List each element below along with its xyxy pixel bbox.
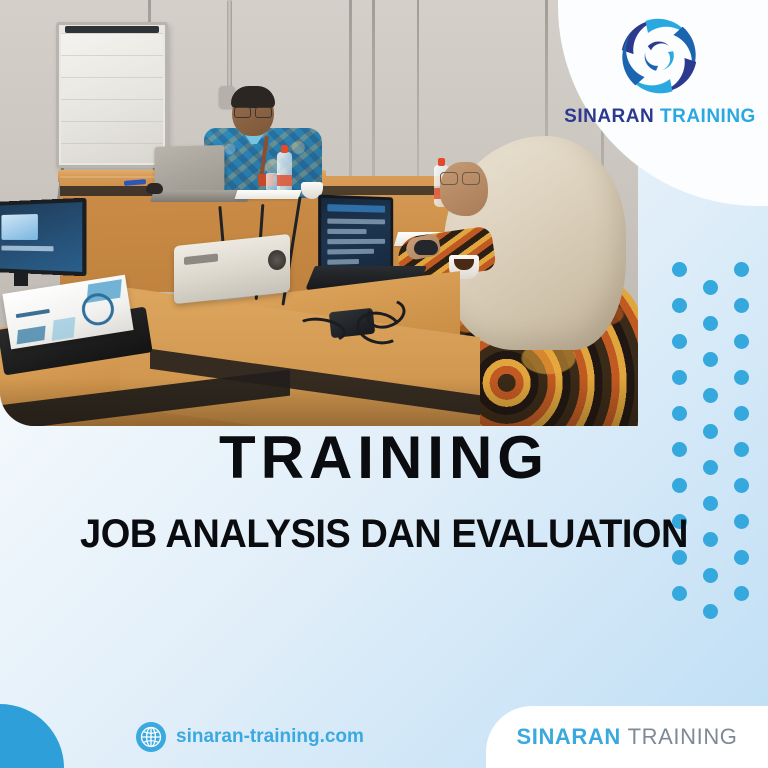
website-url-text: sinaran-training.com [176,726,364,748]
decorative-dot [672,370,687,385]
participant-mouse [414,240,438,255]
laptop-screen-titlebar [327,204,385,213]
paper-stack [235,190,302,199]
laptop-screen-row [327,249,374,255]
poster-canvas: SINARAN TRAINING TRAINING JOB ANALYSIS D… [0,0,768,768]
footer-brand-panel: SINARAN TRAINING [486,706,768,768]
sinaran-swirl-logo-icon [610,12,708,104]
laptop-screen-row [327,259,359,265]
decorative-dot [672,262,687,277]
decorative-dot [734,298,749,313]
decorative-dot [734,370,749,385]
training-photo [0,0,638,426]
laptop-screen-row [327,229,366,234]
wall-seam [417,0,419,200]
decorative-dot [672,406,687,421]
decorative-dot [703,316,718,331]
photo-shadow-overlay [0,378,638,426]
participant-face [440,162,488,216]
globe-icon [136,722,166,752]
decorative-dot [734,334,749,349]
presenter-glasses [234,107,272,116]
flipchart-paper [61,33,163,163]
decorative-dot [734,406,749,421]
decorative-dot [672,334,687,349]
footer-brand-secondary-space [621,724,628,749]
presenter-hair [231,86,275,108]
monitor-slide-line [1,246,53,252]
laptop-screen-row [327,219,385,225]
photo-room-background [0,0,638,426]
presenter-laptop-screen [154,145,224,195]
folder-accent [52,317,76,341]
decorative-dot [703,568,718,583]
decorative-dot [672,586,687,601]
presenter-mouse [146,183,163,194]
decorative-dot [703,388,718,403]
page-subtitle: JOB ANALYSIS DAN EVALUATION [19,512,749,556]
decorative-dot [734,586,749,601]
website-link[interactable]: sinaran-training.com [136,722,364,752]
decorative-dot [703,496,718,511]
wall-pipe [227,0,232,100]
participant-glasses [440,172,480,183]
flipchart-board [56,22,168,168]
folder-text-line [16,309,50,318]
footer-brand-secondary: TRAINING [628,724,738,749]
corner-accent-shape [0,704,64,768]
decorative-dot [703,280,718,295]
logo-brand-secondary: TRAINING [660,106,756,127]
water-bottle [277,152,292,194]
logo-brand-primary: SINARAN [564,106,654,127]
monitor-slide [1,214,37,240]
decorative-dot [672,298,687,313]
decorative-dot [703,352,718,367]
decorative-dot [703,604,718,619]
flipchart-clip [65,26,159,33]
foreground-monitor [0,198,87,277]
footer-brand-primary: SINARAN [516,724,620,749]
laptop-screen-row [327,239,385,244]
page-title: TRAINING [0,428,768,488]
folder-accent [17,326,46,345]
projector-lens [268,250,286,270]
footer-wordmark: SINARAN TRAINING [516,724,737,750]
decorative-dot [734,262,749,277]
logo-wordmark: SINARAN TRAINING [558,106,762,128]
